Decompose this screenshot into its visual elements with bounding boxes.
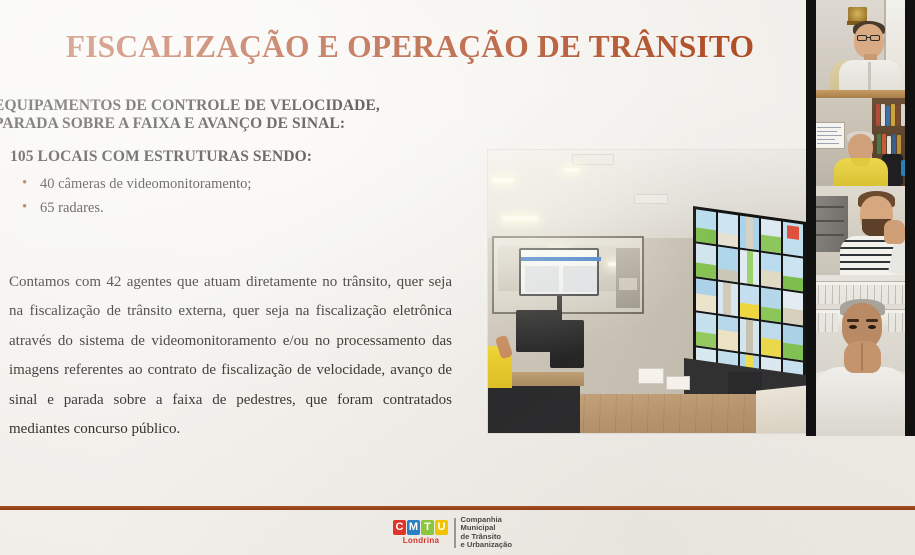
cmtu-logo-tiles: C M T U: [393, 520, 449, 535]
tile4-letterbox-left: [806, 275, 816, 436]
control-room-photo: [488, 150, 806, 433]
section-heading-line-1: EQUIPAMENTOS DE CONTROLE DE VELOCIDADE,: [0, 97, 464, 115]
body-paragraph: Contamos com 42 agentes que atuam direta…: [9, 268, 452, 444]
logo-letter-m: M: [407, 520, 420, 535]
footer-logo: C M T U Londrina Companhia Municipal de …: [393, 516, 512, 550]
footer-divider: [0, 506, 915, 510]
tile3-hand: [884, 220, 905, 244]
organization-name: Companhia Municipal de Trânsito e Urbani…: [461, 516, 513, 550]
bullet-list: 40 câmeras de videomonitoramento; 65 rad…: [16, 172, 336, 220]
tile2-letterbox-right: [905, 98, 915, 186]
section-heading-line-2: PARADA SOBRE A FAIXA E AVANÇO DE SINAL:: [0, 115, 464, 133]
presentation-slide: FISCALIZAÇÃO E OPERAÇÃO DE TRÂNSITO EQUI…: [0, 0, 915, 555]
tile3-letterbox-right: [905, 186, 915, 275]
tile1-letterbox-left: [806, 0, 816, 98]
logo-letter-c: C: [393, 520, 406, 535]
logo-wordmark: Londrina: [393, 536, 449, 545]
logo-divider: [454, 518, 456, 548]
photo-light-glare: [488, 150, 806, 433]
video-tile-participant-1[interactable]: [806, 0, 915, 98]
tile4-letterbox-right: [905, 275, 915, 436]
tile1-letterbox-right: [905, 0, 915, 98]
tile1-face: [854, 24, 884, 58]
video-tile-participant-2[interactable]: [806, 98, 915, 186]
tile2-letterbox-left: [806, 98, 816, 186]
video-tile-participant-4[interactable]: [806, 275, 915, 436]
video-tile-participant-3[interactable]: [806, 186, 915, 275]
tile3-letterbox-left: [806, 186, 816, 275]
org-line-4: e Urbanização: [461, 541, 513, 549]
tile2-whiteboard: [813, 122, 845, 149]
section-heading: EQUIPAMENTOS DE CONTROLE DE VELOCIDADE, …: [0, 97, 464, 133]
cmtu-logo-mark: C M T U Londrina: [393, 520, 449, 545]
tile4-shirt: [814, 367, 910, 436]
tile1-wall-plaque: [848, 7, 867, 22]
slide-title: FISCALIZAÇÃO E OPERAÇÃO DE TRÂNSITO: [0, 29, 820, 65]
logo-letter-t: T: [421, 520, 434, 535]
sub-heading: 105 LOCAIS COM ESTRUTURAS SENDO:: [10, 148, 312, 166]
tile1-glasses: [857, 35, 867, 41]
list-item: 65 radares.: [16, 196, 336, 220]
video-participant-panel: [806, 0, 915, 436]
list-item: 40 câmeras de videomonitoramento;: [16, 172, 336, 196]
logo-letter-u: U: [435, 520, 448, 535]
